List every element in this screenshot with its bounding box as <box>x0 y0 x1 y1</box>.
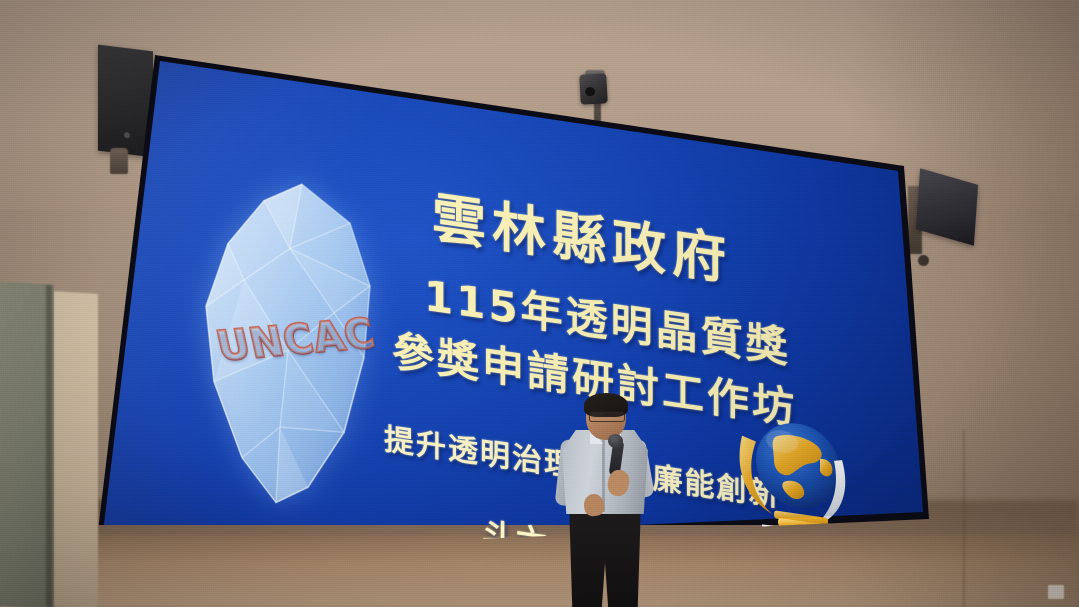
led-screen: UNCAC 雲林縣政府 115年透明晶質獎 參獎申請研討工作坊 提升透明治理 促… <box>92 50 932 525</box>
glasses-icon <box>589 411 625 422</box>
left-door-panel-edge <box>46 285 52 607</box>
wall-outlet <box>1048 585 1064 599</box>
presenter-shirt <box>562 430 648 514</box>
crystal-taiwan-logo: UNCAC <box>184 163 394 523</box>
wall-seam <box>963 430 965 607</box>
presenter <box>540 396 670 607</box>
led-screen-bezel: UNCAC 雲林縣政府 115年透明晶質獎 參獎申請研討工作坊 提升透明治理 促… <box>92 50 932 525</box>
presenter-trousers <box>566 506 644 607</box>
screenshot-root: UNCAC 雲林縣政府 115年透明晶質獎 參獎申請研討工作坊 提升透明治理 促… <box>0 0 1079 607</box>
slide-content: UNCAC 雲林縣政府 115年透明晶質獎 參獎申請研討工作坊 提升透明治理 促… <box>92 22 932 607</box>
